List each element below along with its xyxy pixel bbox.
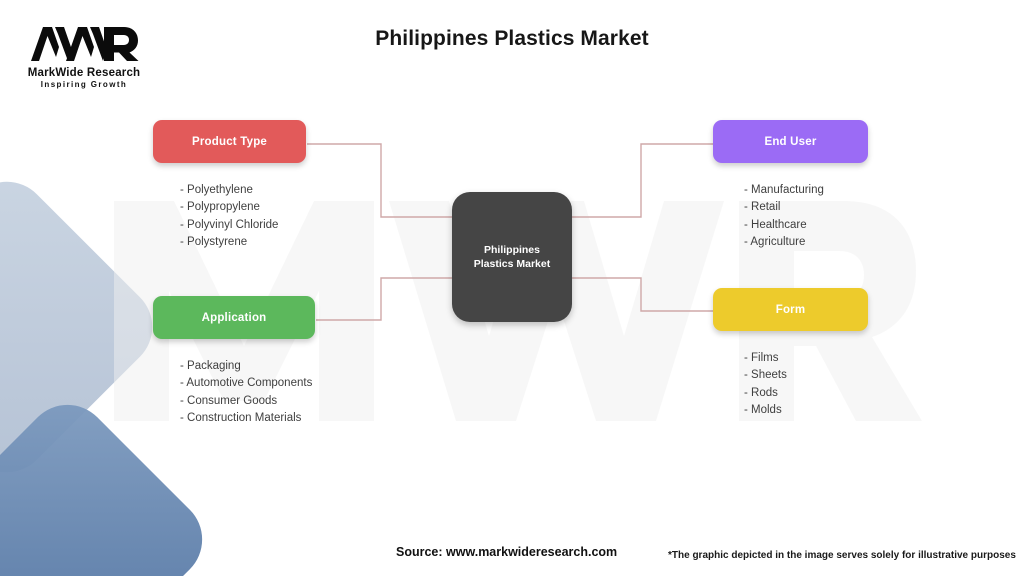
- branch-end-user-box[interactable]: End User: [713, 120, 868, 163]
- list-item: - Polyvinyl Chloride: [180, 217, 306, 234]
- diagram-canvas: MarkWide Research Inspiring Growth Phili…: [0, 0, 1024, 576]
- center-node[interactable]: Philippines Plastics Market: [452, 192, 572, 322]
- list-item: - Consumer Goods: [180, 393, 315, 410]
- branch-product-type-label: Product Type: [192, 136, 267, 148]
- branch-form-box[interactable]: Form: [713, 288, 868, 331]
- list-item: - Polyethylene: [180, 182, 306, 199]
- branch-application-list: - Packaging - Automotive Components - Co…: [180, 358, 315, 428]
- branch-end-user: End User - Manufacturing - Retail - Heal…: [713, 120, 868, 252]
- branch-application-label: Application: [202, 312, 267, 324]
- list-item: - Manufacturing: [744, 182, 868, 199]
- list-item: - Polystyrene: [180, 234, 306, 251]
- list-item: - Molds: [744, 402, 868, 419]
- list-item: - Construction Materials: [180, 410, 315, 427]
- list-item: - Retail: [744, 199, 868, 216]
- list-item: - Films: [744, 350, 868, 367]
- branch-product-type: Product Type - Polyethylene - Polypropyl…: [153, 120, 306, 252]
- center-node-label: Philippines Plastics Market: [465, 243, 559, 271]
- list-item: - Rods: [744, 385, 868, 402]
- list-item: - Automotive Components: [180, 375, 315, 392]
- branch-product-type-box[interactable]: Product Type: [153, 120, 306, 163]
- footer-disclaimer: *The graphic depicted in the image serve…: [668, 550, 1016, 561]
- branch-end-user-list: - Manufacturing - Retail - Healthcare - …: [744, 182, 868, 252]
- branch-product-type-list: - Polyethylene - Polypropylene - Polyvin…: [180, 182, 306, 252]
- branch-application-box[interactable]: Application: [153, 296, 315, 339]
- list-item: - Sheets: [744, 367, 868, 384]
- branch-form: Form - Films - Sheets - Rods - Molds: [713, 288, 868, 420]
- branch-application: Application - Packaging - Automotive Com…: [153, 296, 315, 428]
- branch-form-list: - Films - Sheets - Rods - Molds: [744, 350, 868, 420]
- branch-form-label: Form: [776, 304, 806, 316]
- list-item: - Polypropylene: [180, 199, 306, 216]
- list-item: - Packaging: [180, 358, 315, 375]
- footer-source: Source: www.markwideresearch.com: [396, 545, 617, 559]
- list-item: - Healthcare: [744, 217, 868, 234]
- branch-end-user-label: End User: [764, 136, 816, 148]
- list-item: - Agriculture: [744, 234, 868, 251]
